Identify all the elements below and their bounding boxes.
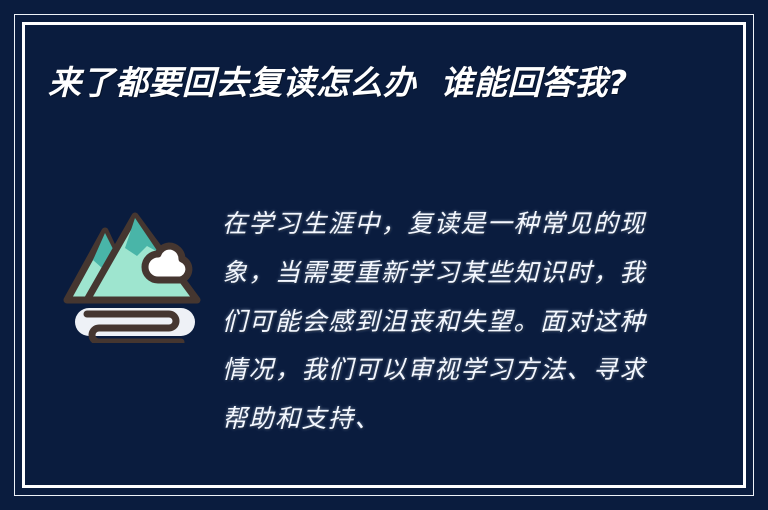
body-column: 在学习生涯中，复读是一种常见的现象，当需要重新学习某些知识时，我们可能会感到沮丧… bbox=[216, 200, 720, 444]
mountain-landscape-icon bbox=[57, 208, 207, 343]
page-title: 来了都要回去复读怎么办 谁能回答我? bbox=[48, 60, 668, 107]
title-block: 来了都要回去复读怎么办 谁能回答我? bbox=[48, 60, 668, 107]
illustration-container bbox=[48, 200, 216, 343]
poster-canvas: 来了都要回去复读怎么办 谁能回答我? bbox=[0, 0, 768, 510]
body-paragraph: 在学习生涯中，复读是一种常见的现象，当需要重新学习某些知识时，我们可能会感到沮丧… bbox=[222, 200, 652, 444]
winding-road-icon bbox=[75, 308, 195, 342]
content-row: 在学习生涯中，复读是一种常见的现象，当需要重新学习某些知识时，我们可能会感到沮丧… bbox=[48, 200, 720, 444]
